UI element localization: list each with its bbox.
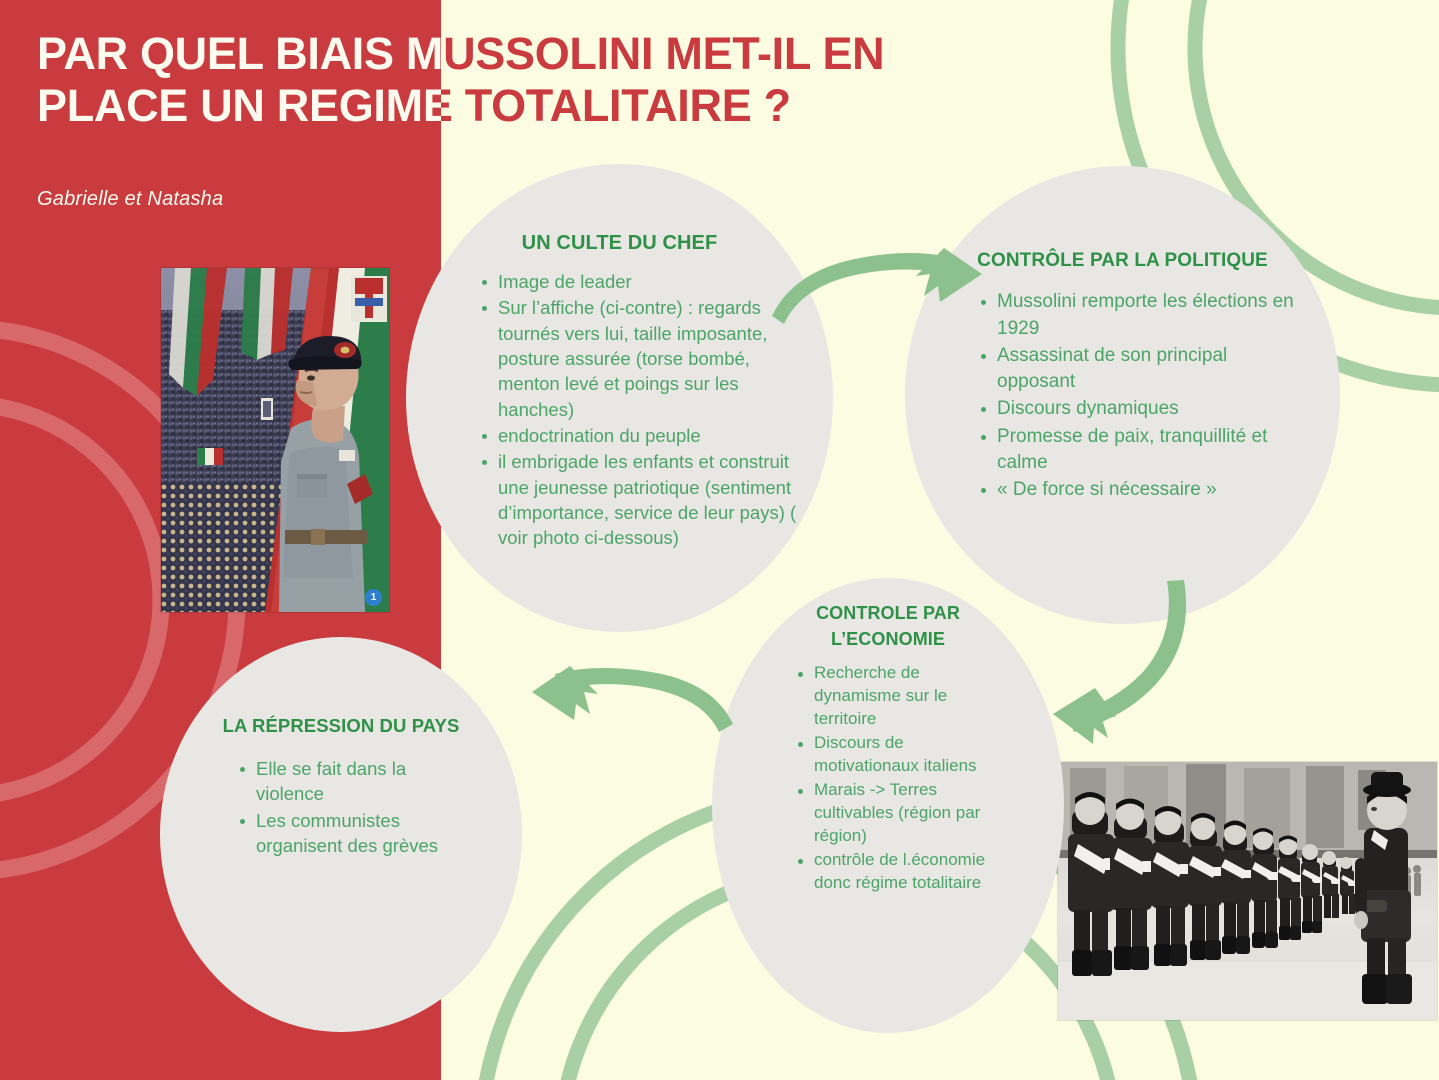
mussolini-poster-image: 1 [161,268,389,612]
bubble-un-culte-du-chef: UN CULTE DU CHEF Image de leader Sur l’a… [406,164,833,632]
mussolini-poster-illustration [161,268,389,612]
bubble-heading: CONTROLE PAR L’ECONOMIE [782,600,994,652]
bubble-bullet-list: Elle se fait dans la violence Les commun… [160,756,522,859]
bubble-bullet-list: Mussolini remporte les élections en 1929… [905,289,1340,503]
list-item: Sur l’affiche (ci-contre) : regards tour… [478,295,797,422]
balilla-youth-illustration [1058,762,1437,1020]
bubble-la-repression-du-pays: LA RÉPRESSION DU PAYS Elle se fait dans … [160,637,522,1032]
list-item: Recherche de dynamisme sur le territoire [794,662,1004,731]
bubble-controle-par-leconomie: CONTROLE PAR L’ECONOMIE Recherche de dyn… [712,578,1064,1033]
poster-source-badge: 1 [365,589,382,606]
list-item: Discours de motivationaux italiens [794,732,1004,778]
list-item: Les communistes organisent des grèves [236,808,474,859]
balilla-youth-photo [1058,762,1437,1020]
list-item: Assassinat de son principal opposant [977,343,1304,395]
bubble-heading: LA RÉPRESSION DU PAYS [206,713,476,740]
list-item: Elle se fait dans la violence [236,756,474,807]
list-item: « De force si nécessaire » [977,477,1304,503]
bubble-bullet-list: Recherche de dynamisme sur le territoire… [712,662,1064,894]
bubble-heading: UN CULTE DU CHEF [406,232,833,255]
bubble-controle-par-la-politique: CONTRÔLE PAR LA POLITIQUE Mussolini remp… [905,166,1340,624]
list-item: il embrigade les enfants et construit un… [478,449,797,550]
list-item: contrôle de l.économie donc régime total… [794,849,1004,895]
list-item: Discours dynamiques [977,396,1304,422]
bubble-heading: CONTRÔLE PAR LA POLITIQUE [967,248,1278,273]
list-item: endoctrination du peuple [478,423,797,448]
list-item: Mussolini remporte les élections en 1929 [977,289,1304,341]
bubble-bullet-list: Image de leader Sur l’affiche (ci-contre… [406,269,833,551]
slide-canvas: PAR QUEL BIAIS MUSSOLINI MET-IL EN PLACE… [0,0,1439,1080]
list-item: Image de leader [478,269,797,294]
byline-authors: Gabrielle et Natasha [37,188,223,211]
list-item: Marais -> Terres cultivables (région par… [794,779,1004,848]
list-item: Promesse de paix, tranquillité et calme [977,424,1304,476]
page-title: PAR QUEL BIAIS MUSSOLINI MET-IL EN PLACE… [37,28,1127,185]
